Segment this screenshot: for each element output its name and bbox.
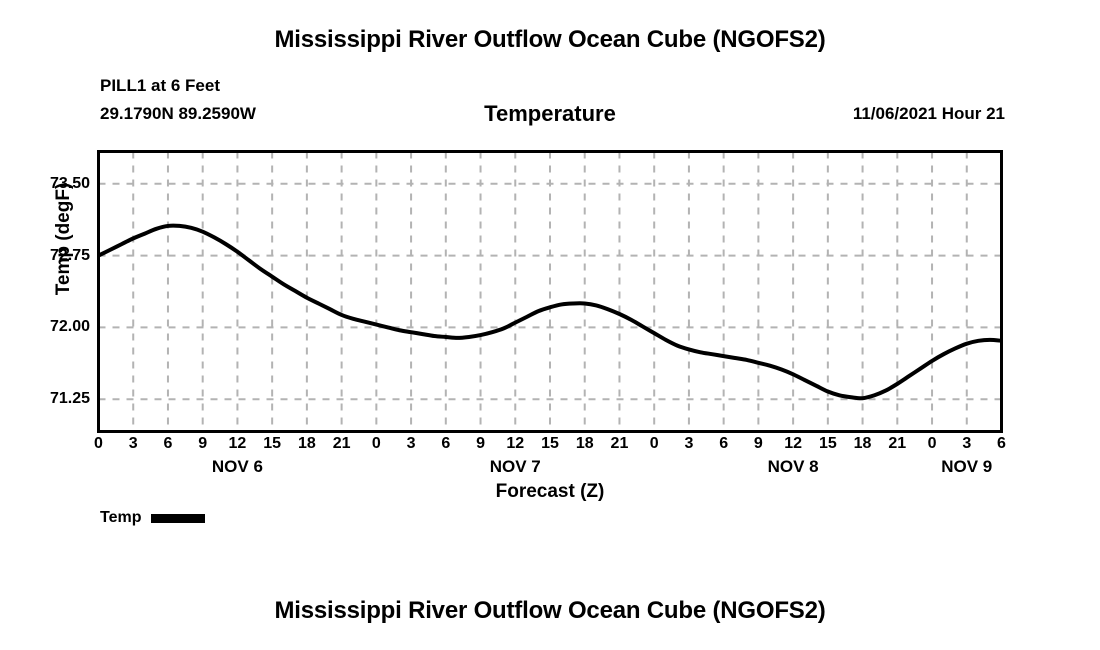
- legend: Temp: [100, 509, 205, 527]
- chart-page: Mississippi River Outflow Ocean Cube (NG…: [0, 0, 1100, 650]
- x-axis-day-labels: NOV 6NOV 7NOV 8NOV 9: [0, 458, 1100, 480]
- y-tick-label: 72.75: [30, 248, 90, 264]
- x-day-label: NOV 7: [455, 458, 575, 475]
- page-title-bottom: Mississippi River Outflow Ocean Cube (NG…: [0, 597, 1100, 625]
- vertical-gridlines: [133, 152, 967, 432]
- forecast-cycle-label: 11/06/2021 Hour 21: [853, 104, 1005, 124]
- x-day-label: NOV 6: [177, 458, 297, 475]
- y-axis-tick-labels: 73.5072.7572.0071.25: [28, 150, 90, 433]
- x-day-label: NOV 8: [733, 458, 853, 475]
- y-tick-label: 72.00: [30, 319, 90, 335]
- page-title-top: Mississippi River Outflow Ocean Cube (NG…: [0, 26, 1100, 54]
- x-axis-tick-labels: 036912151821036912151821036912151821036: [0, 436, 1100, 458]
- legend-swatch-temp: [151, 514, 205, 523]
- y-tick-label: 73.50: [30, 176, 90, 192]
- y-tick-label: 71.25: [30, 391, 90, 407]
- x-day-label: NOV 9: [907, 458, 1027, 475]
- plot-area: [97, 150, 1003, 433]
- legend-label-temp: Temp: [100, 509, 141, 527]
- station-label: PILL1 at 6 Feet: [100, 76, 220, 96]
- temperature-line-chart: [97, 150, 1003, 433]
- x-axis-title: Forecast (Z): [0, 481, 1100, 503]
- x-tick-label: 6: [982, 436, 1022, 452]
